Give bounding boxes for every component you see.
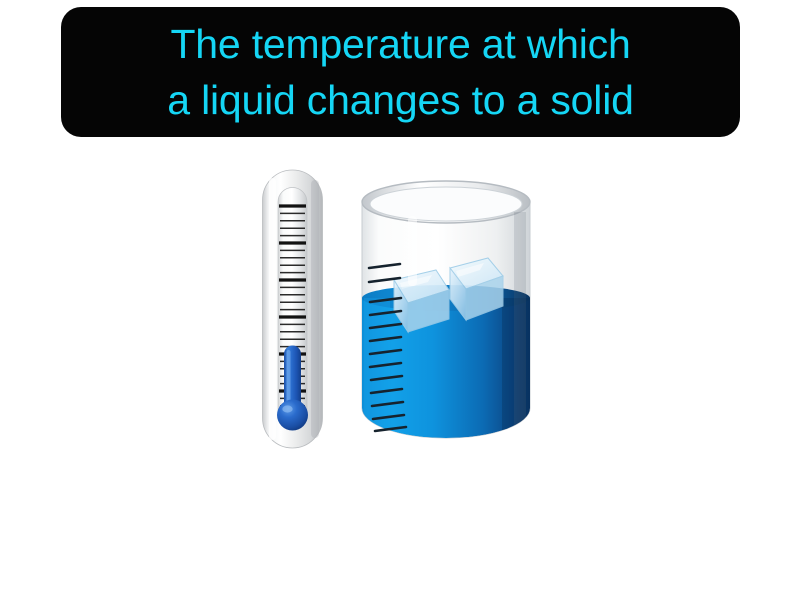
definition-line-2: a liquid changes to a solid xyxy=(167,72,633,128)
illustration-area xyxy=(0,150,800,480)
thermometer xyxy=(259,168,326,450)
beaker-rim xyxy=(362,181,530,223)
definition-line-1: The temperature at which xyxy=(170,16,630,72)
definition-banner: The temperature at which a liquid change… xyxy=(61,7,740,137)
thermometer-bulb xyxy=(277,400,308,431)
beaker xyxy=(348,172,544,460)
definition-card: The temperature at which a liquid change… xyxy=(0,0,800,600)
